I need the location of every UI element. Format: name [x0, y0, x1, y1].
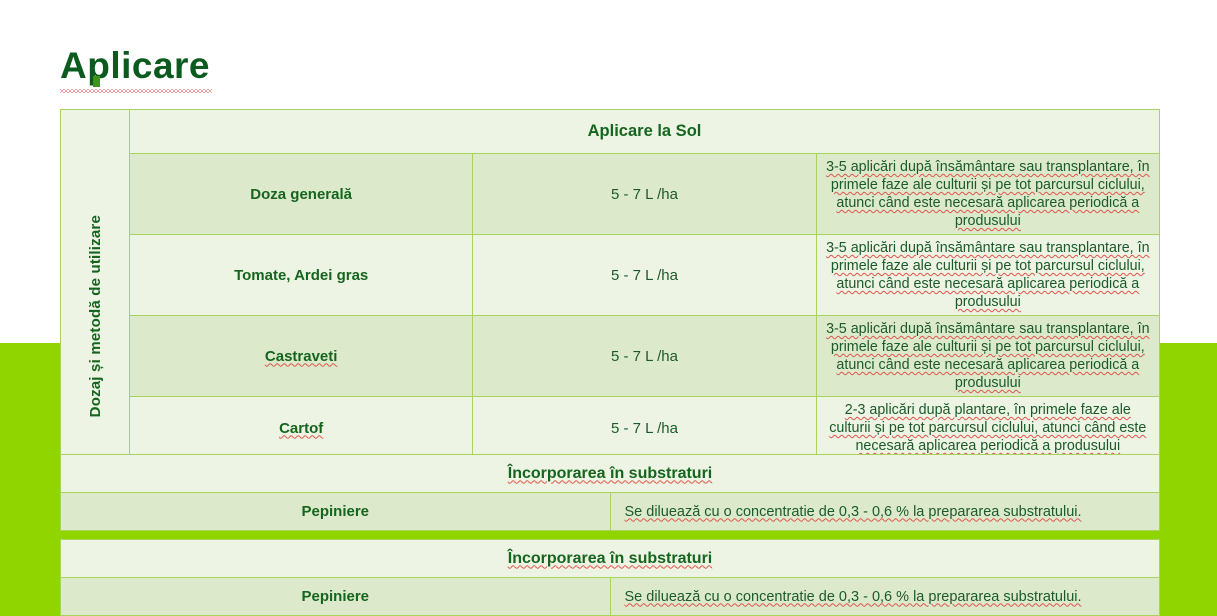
application-description: 3-5 aplicări după însământare sau transp… — [816, 154, 1159, 235]
dose-value: 5 - 7 L /ha — [473, 397, 816, 460]
dose-value: 5 - 7 L /ha — [473, 316, 816, 397]
substrate-incorporation-table-1: Încorporarea în substraturi Pepiniere Se… — [60, 454, 1160, 531]
table-row: Tomate, Ardei gras 5 - 7 L /ha 3-5 aplic… — [61, 235, 1160, 316]
table-header-incorporarea-in-substraturi: Încorporarea în substraturi — [61, 455, 1160, 493]
table-row: Doza generală 5 - 7 L /ha 3-5 aplicări d… — [61, 154, 1160, 235]
application-description: 3-5 aplicări după însământare sau transp… — [816, 316, 1159, 397]
application-description: Se diluează cu o concentratie de 0,3 - 0… — [610, 578, 1160, 616]
table-row-header: Încorporarea în substraturi — [61, 455, 1160, 493]
slide-content: Aplicare Dozaj și metodă de utilizare Ap… — [0, 0, 1217, 616]
application-description: 2-3 aplicări după plantare, în primele f… — [816, 397, 1159, 460]
table-row: Cartof 5 - 7 L /ha 2-3 aplicări după pla… — [61, 397, 1160, 460]
table-row: Castraveti 5 - 7 L /ha 3-5 aplicări după… — [61, 316, 1160, 397]
crop-label: Tomate, Ardei gras — [130, 235, 473, 316]
application-description: 3-5 aplicări după însământare sau transp… — [816, 235, 1159, 316]
text-caret — [93, 76, 100, 87]
crop-label: Castraveti — [130, 316, 473, 397]
dose-value: 5 - 7 L /ha — [473, 235, 816, 316]
table-row: Pepiniere Se diluează cu o concentratie … — [61, 493, 1160, 531]
table-row: Pepiniere Se diluează cu o concentratie … — [61, 578, 1160, 616]
crop-label: Pepiniere — [61, 493, 611, 531]
substrate-incorporation-table-2: Încorporarea în substraturi Pepiniere Se… — [60, 539, 1160, 616]
crop-label: Pepiniere — [61, 578, 611, 616]
table-row-header: Dozaj și metodă de utilizare Aplicare la… — [61, 110, 1160, 154]
dose-value: 5 - 7 L /ha — [473, 154, 816, 235]
page-title: Aplicare — [60, 44, 210, 88]
application-description: Se diluează cu o concentratie de 0,3 - 0… — [610, 493, 1160, 531]
table-header-incorporarea-in-substraturi: Încorporarea în substraturi — [61, 540, 1160, 578]
crop-label: Doza generală — [130, 154, 473, 235]
page-title-text: Aplicare — [60, 44, 210, 88]
table-header-aplicare-la-sol: Aplicare la Sol — [130, 110, 1160, 154]
crop-label: Cartof — [130, 397, 473, 460]
vertical-axis-label: Dozaj și metodă de utilizare — [87, 215, 104, 417]
table-row-header: Încorporarea în substraturi — [61, 540, 1160, 578]
